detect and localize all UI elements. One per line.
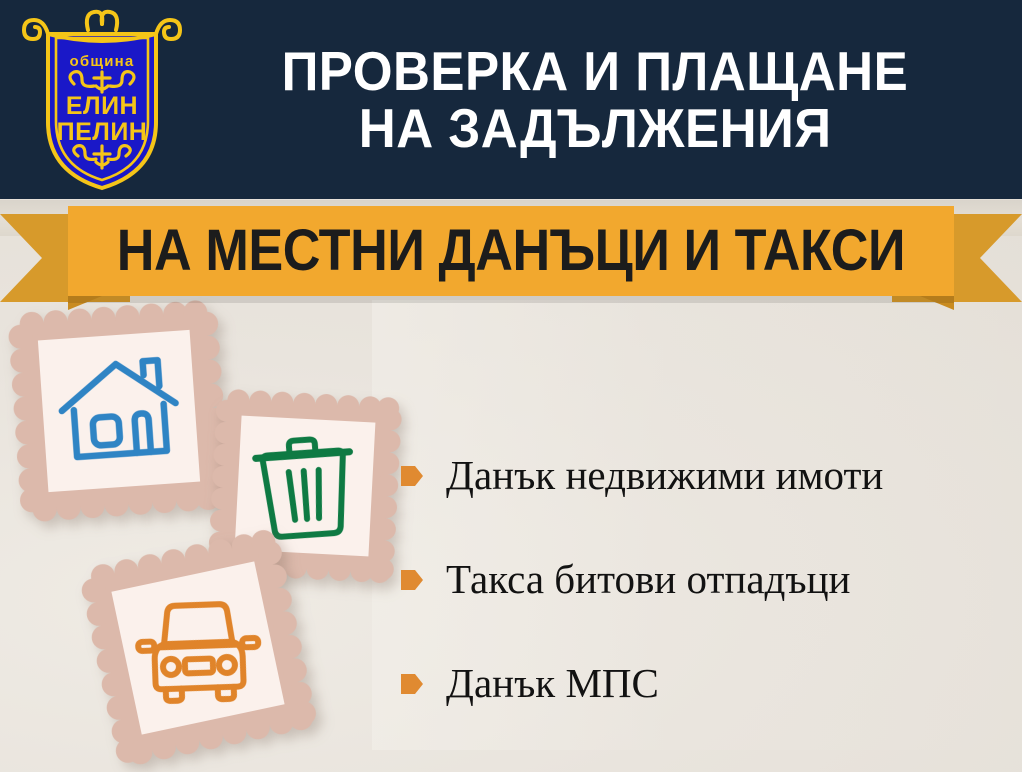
- poster-root: община ЕЛИН ПЕЛИН: [0, 0, 1022, 772]
- svg-text:община: община: [70, 53, 135, 70]
- tax-type-list: Данък недвижими имоти Такса битови отпад…: [400, 424, 1022, 736]
- arrow-bullet-icon: [400, 671, 424, 697]
- ribbon-label: НА МЕСТНИ ДАНЪЦИ И ТАКСИ: [117, 222, 905, 280]
- header-bar: община ЕЛИН ПЕЛИН: [0, 0, 1022, 199]
- svg-text:ПЕЛИН: ПЕЛИН: [57, 118, 148, 146]
- list-item-label: Данък недвижими имоти: [446, 453, 883, 498]
- ribbon-panel: НА МЕСТНИ ДАНЪЦИ И ТАКСИ: [68, 206, 954, 296]
- subtitle-ribbon: НА МЕСТНИ ДАНЪЦИ И ТАКСИ: [0, 198, 1022, 308]
- list-item[interactable]: Данък недвижими имоти: [400, 424, 1022, 528]
- title-line-1: ПРОВЕРКА И ПЛАЩАНЕ: [282, 43, 909, 100]
- arrow-bullet-icon: [400, 463, 424, 489]
- stamp-card-car: [77, 527, 319, 769]
- list-item[interactable]: Такса битови отпадъци: [400, 528, 1022, 632]
- list-item[interactable]: Данък МПС: [400, 632, 1022, 736]
- page-title: ПРОВЕРКА И ПЛАЩАНЕ НА ЗАДЪЛЖЕНИЯ: [190, 22, 1000, 177]
- svg-text:ЕЛИН: ЕЛИН: [66, 92, 138, 120]
- municipality-crest-logo: община ЕЛИН ПЕЛИН: [22, 4, 182, 192]
- list-item-label: Такса битови отпадъци: [446, 557, 850, 602]
- title-line-2: НА ЗАДЪЛЖЕНИЯ: [359, 100, 832, 157]
- list-item-label: Данък МПС: [446, 661, 659, 706]
- stamp-card-house: [7, 299, 231, 523]
- arrow-bullet-icon: [400, 567, 424, 593]
